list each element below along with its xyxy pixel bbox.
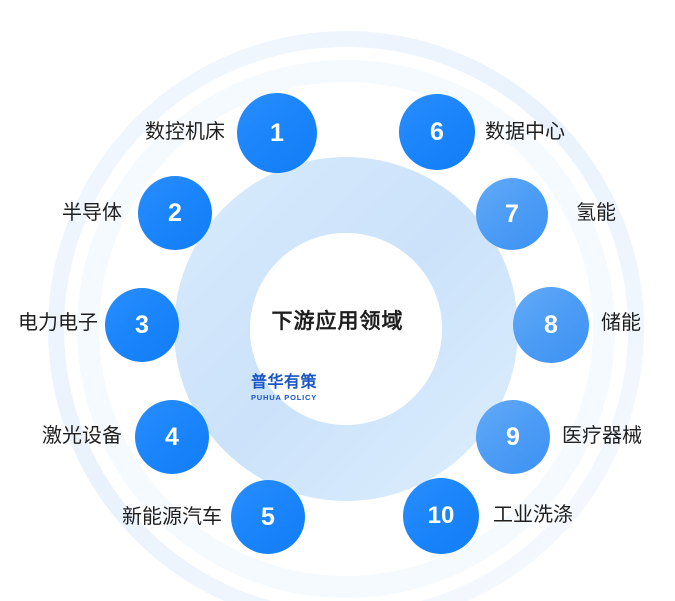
node-label-8: 储能	[601, 313, 641, 333]
node-label-10: 工业洗涤	[493, 505, 573, 525]
diagram-canvas: 下游应用领域 普华有策 PUHUA POLICY 12345678910 数控机…	[0, 0, 675, 601]
node-label-1: 数控机床	[145, 122, 225, 142]
brand-logo: 普华有策 PUHUA POLICY	[236, 375, 332, 402]
page-title: 下游应用领域	[0, 305, 675, 335]
node-label-6: 数据中心	[485, 122, 565, 142]
node-label-4: 激光设备	[42, 426, 122, 446]
node-circle-5[interactable]	[231, 480, 305, 554]
node-circle-2[interactable]	[138, 176, 212, 250]
node-circle-7[interactable]	[476, 178, 548, 250]
node-circle-4[interactable]	[135, 400, 209, 474]
node-label-9: 医疗器械	[562, 426, 642, 446]
node-circle-1[interactable]	[237, 93, 317, 173]
node-circle-10[interactable]	[403, 478, 479, 554]
logo-chinese: 普华有策	[236, 375, 332, 391]
node-label-2: 半导体	[62, 203, 122, 223]
node-circle-6[interactable]	[399, 94, 475, 170]
node-label-7: 氢能	[576, 203, 616, 223]
logo-english: PUHUA POLICY	[236, 394, 332, 402]
background-rings	[0, 0, 675, 601]
node-circle-9[interactable]	[476, 400, 550, 474]
node-label-3: 电力电子	[18, 313, 98, 333]
node-label-5: 新能源汽车	[122, 507, 222, 527]
